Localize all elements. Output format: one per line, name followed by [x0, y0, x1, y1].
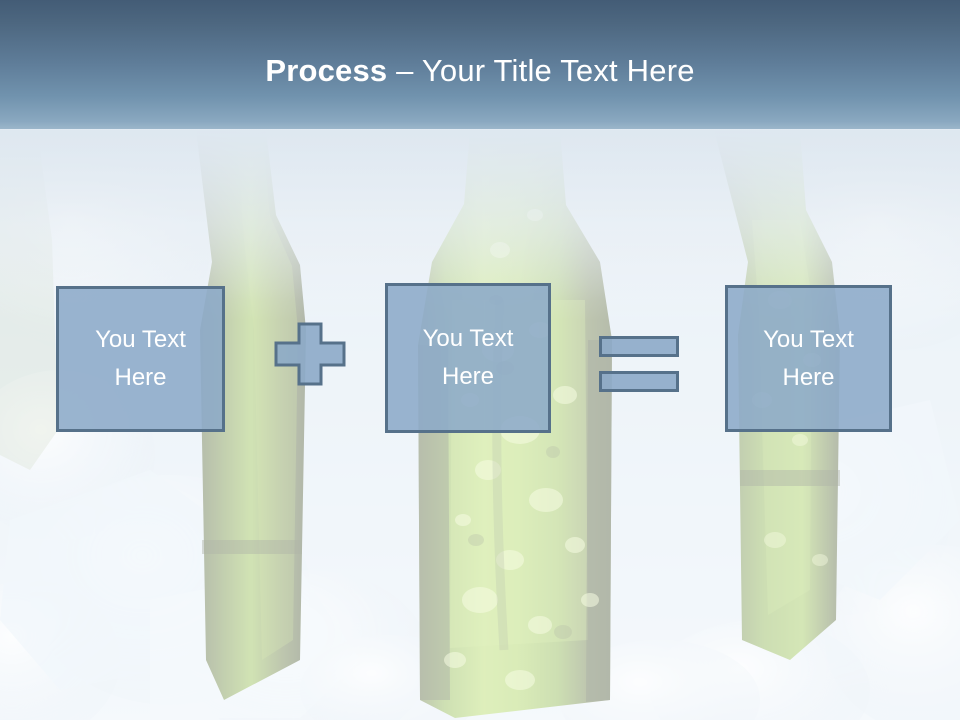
equals-icon-bar-bottom [599, 371, 679, 392]
slide-title-rest: – Your Title Text Here [387, 53, 694, 88]
slide-title: Process – Your Title Text Here [0, 52, 960, 90]
process-box-3[interactable]: You Text Here [725, 285, 892, 432]
process-box-2[interactable]: You Text Here [385, 283, 551, 433]
equals-operator [599, 336, 679, 392]
process-box-1[interactable]: You Text Here [56, 286, 225, 432]
slide-canvas: Process – Your Title Text Here You Text … [0, 0, 960, 720]
process-box-2-label: You Text Here [415, 320, 522, 396]
equals-icon-bar-top [599, 336, 679, 357]
process-box-3-label: You Text Here [755, 321, 862, 397]
slide-title-emphasis: Process [265, 53, 387, 88]
plus-icon [274, 322, 346, 386]
slide-header-band: Process – Your Title Text Here [0, 0, 960, 129]
plus-operator [274, 322, 346, 386]
process-box-1-label: You Text Here [87, 321, 194, 397]
